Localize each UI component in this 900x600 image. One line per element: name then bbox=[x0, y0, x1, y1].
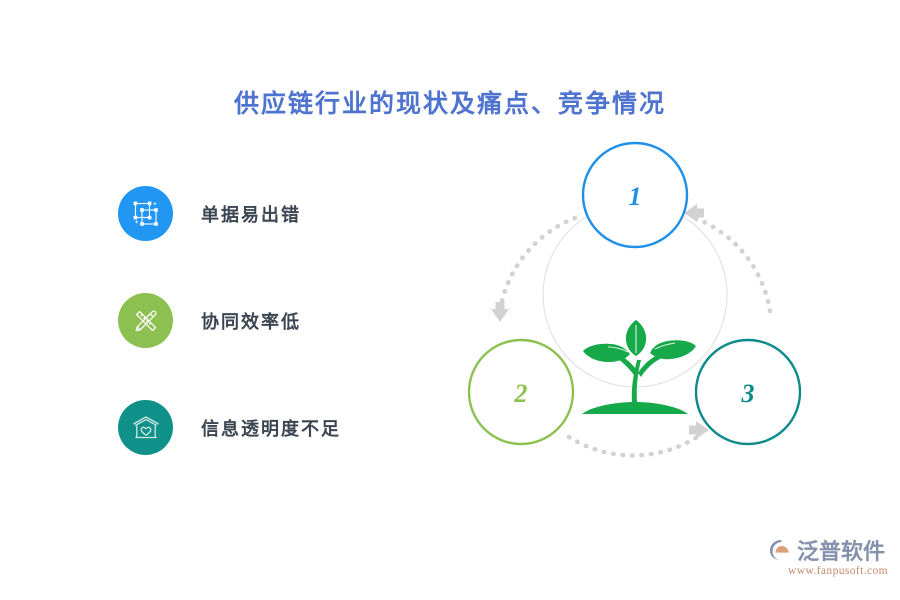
fanpu-swoosh-icon bbox=[768, 537, 794, 563]
cycle-node-1-number: 1 bbox=[629, 182, 642, 211]
cycle-node-3-number: 3 bbox=[741, 379, 755, 408]
cycle-node-3[interactable]: 3 bbox=[696, 340, 800, 444]
green-sprout-icon bbox=[582, 320, 696, 414]
arrow-1-to-2 bbox=[491, 218, 575, 322]
house-heart-icon bbox=[118, 400, 173, 455]
cycle-diagram: 1 2 3 bbox=[455, 125, 835, 485]
slide-canvas: 供应链行业的现状及痛点、竞争情况 bbox=[0, 0, 900, 600]
pencil-ruler-cross-icon bbox=[118, 293, 173, 348]
logo-url: www.fanpusoft.com bbox=[768, 565, 888, 577]
list-item[interactable]: 信息透明度不足 bbox=[118, 400, 448, 455]
logo-name: 泛普软件 bbox=[797, 534, 885, 566]
brand-logo: 泛普软件 www.fanpusoft.com bbox=[768, 536, 888, 586]
cycle-node-2-number: 2 bbox=[514, 379, 528, 408]
list-item-label: 单据易出错 bbox=[201, 201, 301, 227]
list-item-label: 信息透明度不足 bbox=[201, 415, 341, 441]
list-item[interactable]: 单据易出错 bbox=[118, 186, 448, 241]
cycle-node-1[interactable]: 1 bbox=[583, 143, 687, 247]
arrow-2-to-3 bbox=[569, 421, 709, 455]
cycle-node-2[interactable]: 2 bbox=[469, 340, 573, 444]
transform-nodes-icon bbox=[118, 186, 173, 241]
page-title: 供应链行业的现状及痛点、竞争情况 bbox=[0, 84, 900, 120]
pain-point-list: 单据易出错 协同效率低 bbox=[118, 186, 448, 507]
list-item-label: 协同效率低 bbox=[201, 308, 301, 334]
list-item[interactable]: 协同效率低 bbox=[118, 293, 448, 348]
